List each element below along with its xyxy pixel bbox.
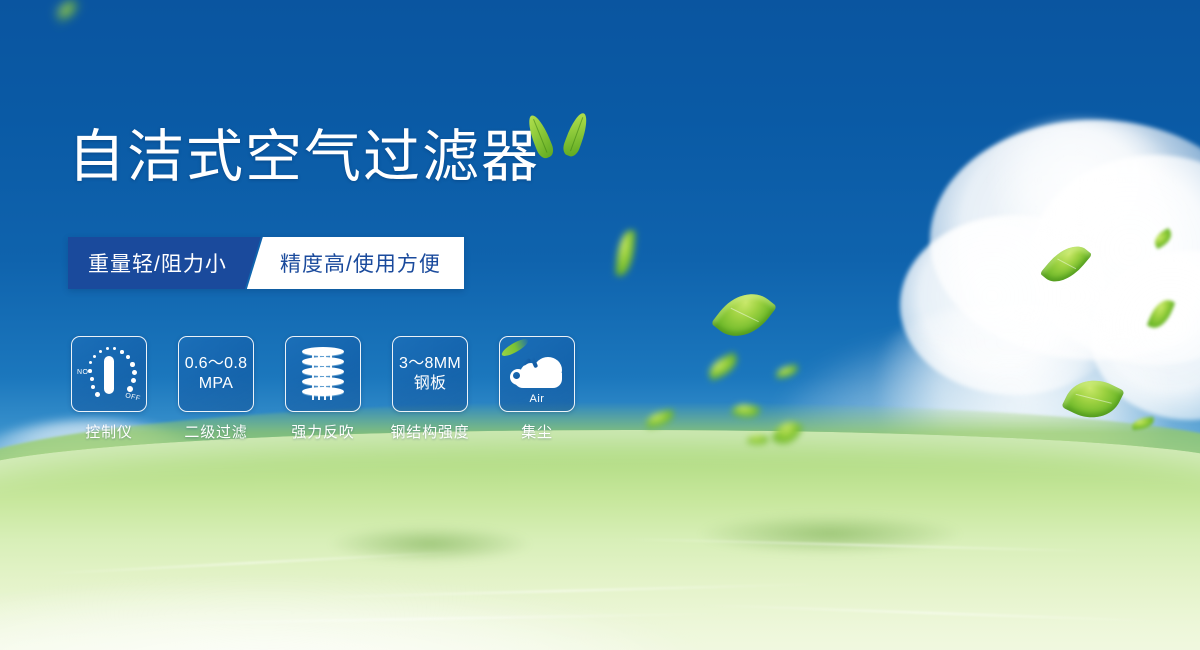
pressure-unit-text: MPA [199, 374, 233, 394]
filter-stack-icon [296, 345, 350, 403]
feature-item-control-instrument[interactable]: NO OFF 控制仪 [71, 336, 147, 442]
subtitle-left-text: 重量轻/阻力小 [68, 237, 261, 289]
floating-leaf [615, 229, 635, 276]
feature-item-two-stage-filtration[interactable]: 0.6〜0.8 MPA 二级过滤 [178, 336, 254, 442]
title-leaf-pair-icon [472, 106, 562, 166]
feature-label: 集尘 [521, 421, 553, 442]
cloud-shape [900, 215, 1130, 395]
steel-thickness-text: 3〜8MM [399, 354, 461, 374]
air-label: Air [506, 393, 568, 405]
feature-label: 强力反吹 [291, 421, 354, 442]
floating-leaf [775, 365, 798, 379]
feature-icon-box [285, 336, 361, 412]
gauge-off-label: OFF [124, 392, 141, 403]
grass-shadow [700, 514, 960, 554]
leaf-icon-right [561, 111, 591, 159]
feature-icon-box: 3〜8MM 钢板 [392, 336, 468, 412]
feature-label: 钢结构强度 [391, 421, 470, 442]
floating-leaf [1151, 228, 1175, 249]
title-block: 自洁式空气过滤器 [68, 128, 540, 188]
gauge-needle [104, 356, 114, 394]
feature-item-dust-collection[interactable]: Air 集尘 [499, 336, 575, 442]
cloud-shape [980, 120, 1180, 240]
leaf-icon-left [524, 113, 556, 161]
feature-icon-box: 0.6〜0.8 MPA [178, 336, 254, 412]
floating-leaf [1147, 296, 1176, 332]
subtitle-bar: 重量轻/阻力小 精度高/使用方便 [68, 237, 464, 289]
floating-leaf [54, 0, 79, 20]
steel-plate-text: 钢板 [414, 374, 447, 394]
feature-icon-box: NO OFF [71, 336, 147, 412]
cloud-shape [930, 120, 1200, 360]
feature-item-strong-backblow[interactable]: 强力反吹 [285, 336, 361, 442]
floating-leaf [711, 281, 777, 349]
floating-leaf [1040, 237, 1092, 292]
gauge-on-label: NO [77, 369, 89, 376]
cloud-shape [1030, 155, 1200, 365]
page-title: 自洁式空气过滤器 [68, 128, 540, 188]
feature-item-steel-structure[interactable]: 3〜8MM 钢板 钢结构强度 [392, 336, 468, 442]
gauge-icon: NO OFF [77, 344, 141, 404]
air-cloud-icon: Air [506, 347, 568, 401]
feature-label: 二级过滤 [184, 421, 247, 442]
cloud-shape [1090, 250, 1200, 420]
floating-leaf [705, 352, 741, 381]
feature-icon-box: Air [499, 336, 575, 412]
feature-label: 控制仪 [85, 421, 132, 442]
subtitle-right-text: 精度高/使用方便 [247, 237, 464, 289]
wind-swoosh-icon [500, 336, 530, 359]
feature-list: NO OFF 控制仪 0.6〜0.8 MPA 二级过滤 [71, 336, 575, 442]
product-hero-banner: 自洁式空气过滤器 重量轻/阻力小 精度高/使用方便 [0, 0, 1200, 650]
pressure-range-text: 0.6〜0.8 [185, 354, 248, 374]
